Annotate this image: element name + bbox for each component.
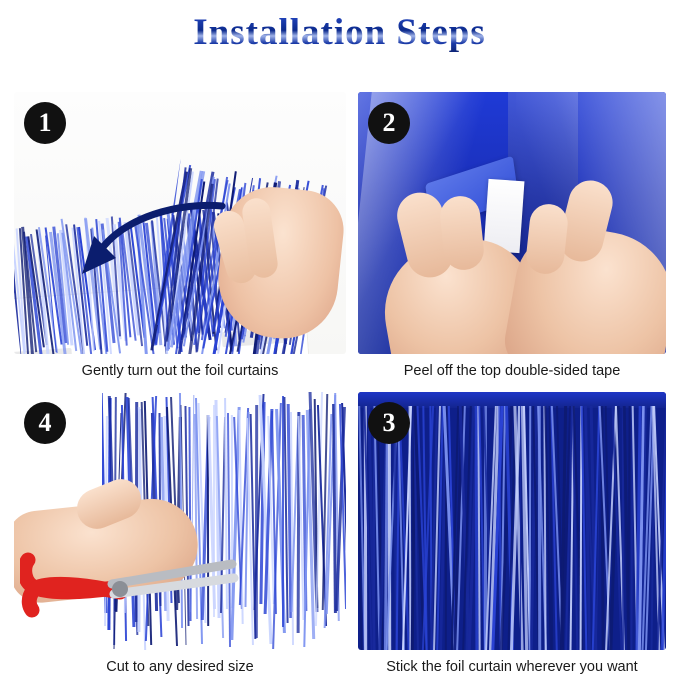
step-image-1: 1: [14, 92, 346, 354]
page-title-area: Installation Steps: [0, 6, 679, 58]
step-image-4: 4: [14, 392, 346, 650]
step-card-2: 2 Peel off the top double-sided tape: [358, 92, 666, 392]
step-caption-2: Peel off the top double-sided tape: [358, 363, 666, 379]
step-card-1: 1 Gently: [14, 92, 346, 392]
steps-grid: 1 Gently: [14, 92, 666, 688]
foil-curtain: [358, 406, 666, 650]
step-caption-3: Stick the foil curtain wherever you want: [358, 659, 666, 675]
installation-steps-page: Installation Steps 1: [0, 0, 679, 696]
direction-arrow-icon: [72, 200, 232, 280]
step-card-4: 4 Cut to any desired size: [14, 392, 346, 688]
step-card-3: 3 Stick the foil curtain wherever you wa…: [358, 392, 666, 688]
step-image-2: 2: [358, 92, 666, 354]
step-badge-1: 1: [24, 102, 66, 144]
scissors-icon: [20, 534, 260, 634]
step-image-3: 3: [358, 392, 666, 650]
step-badge-3: 3: [368, 402, 410, 444]
step-badge-4: 4: [24, 402, 66, 444]
step-caption-1: Gently turn out the foil curtains: [14, 363, 346, 379]
step-caption-4: Cut to any desired size: [14, 659, 346, 675]
page-title: Installation Steps: [193, 11, 485, 54]
step-badge-2: 2: [368, 102, 410, 144]
